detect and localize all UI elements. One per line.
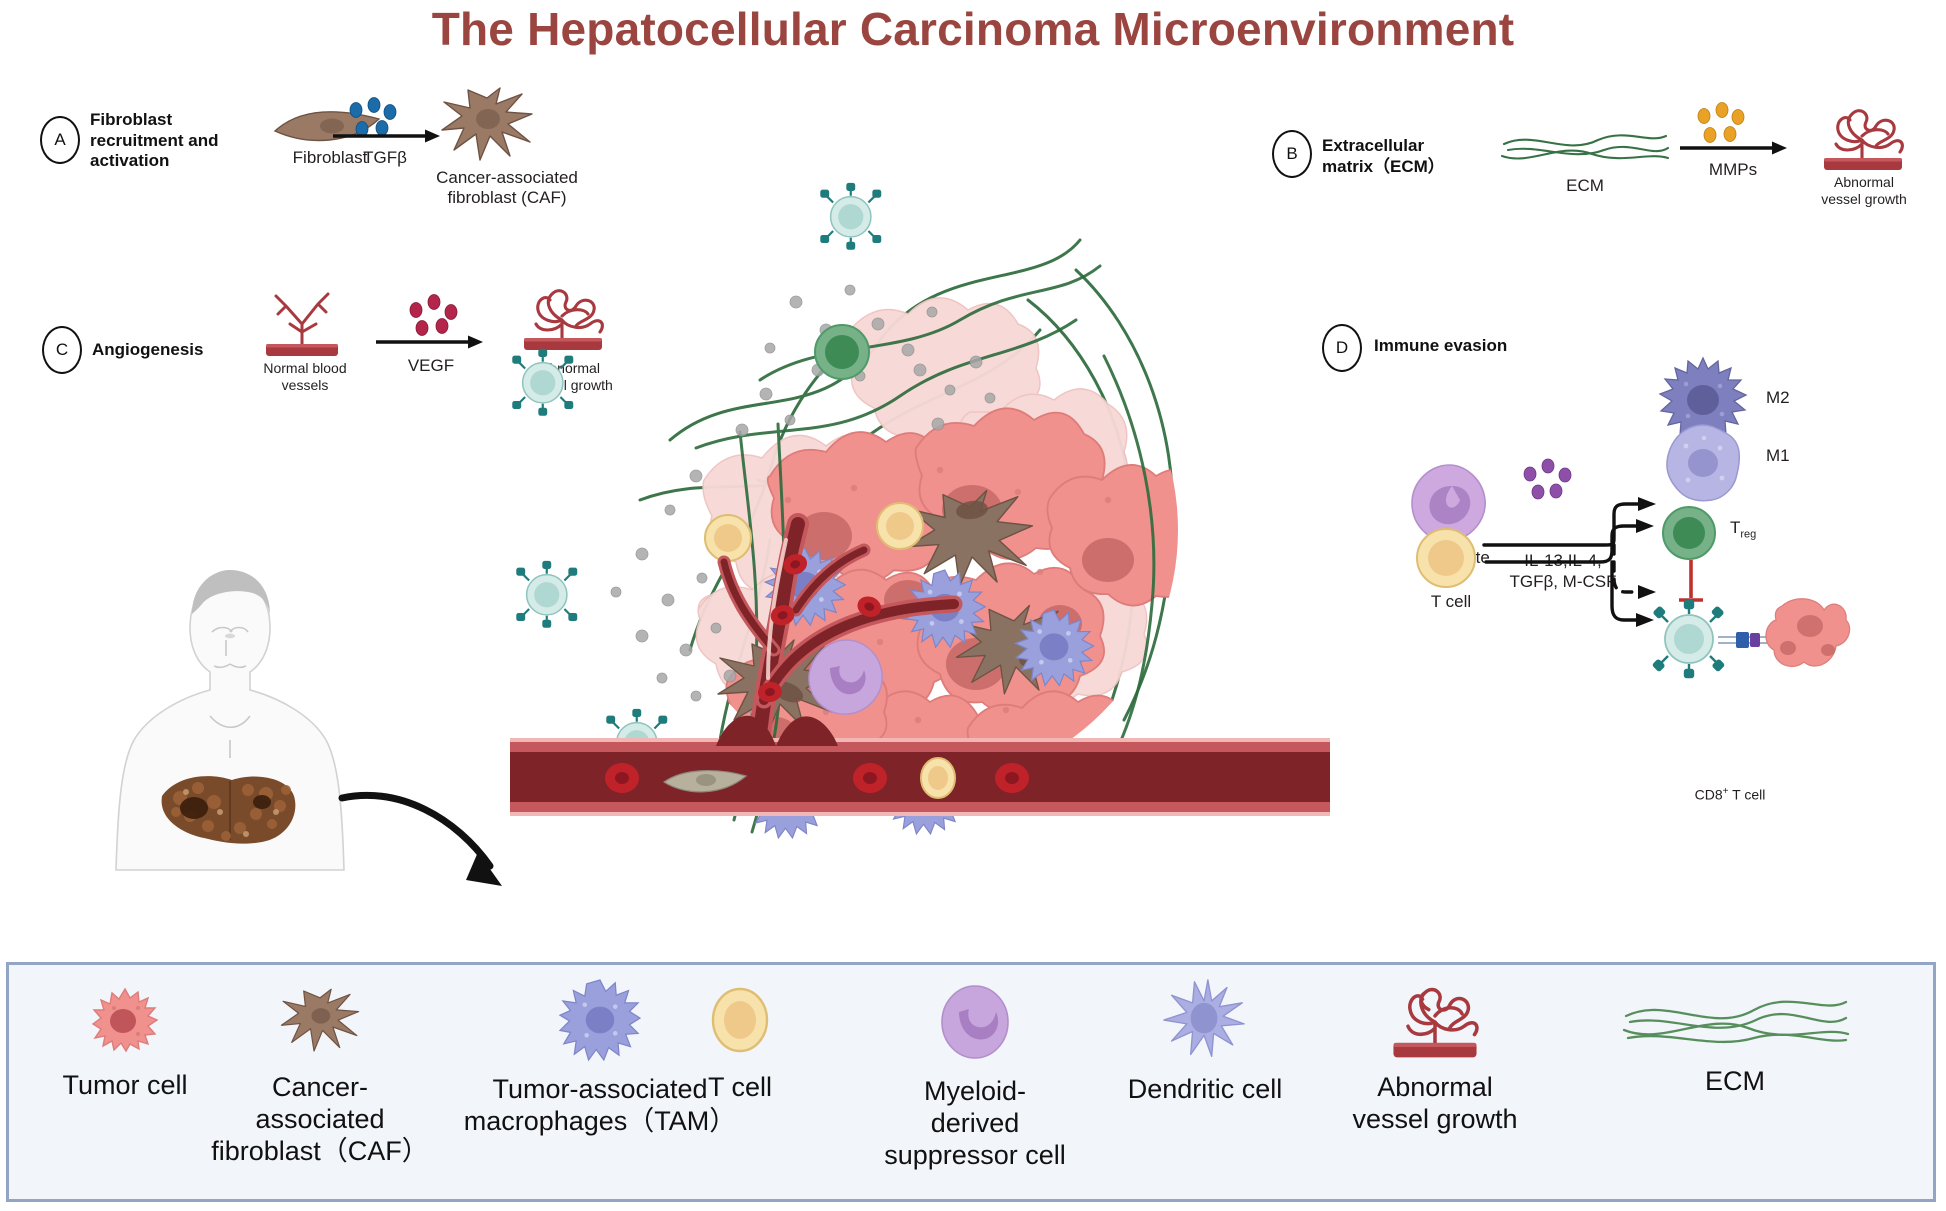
legend-item-dendritic-cell: Dendritic cell: [1090, 978, 1320, 1106]
panel-d-t-cell-icon: [1414, 526, 1478, 590]
panel-c-letter-badge: C: [42, 326, 82, 374]
panel-c-arrow-icon: [376, 334, 484, 350]
panel-a-title: Fibroblast recruitment and activation: [90, 110, 240, 172]
cd8-t-cell-icon: [1650, 600, 1728, 678]
panel-b-title: Extracellular matrix（ECM）: [1322, 136, 1482, 177]
panel-b-letter: B: [1272, 130, 1312, 178]
legend-item-caf: Cancer- associated fibroblast（CAF）: [205, 986, 435, 1168]
cd8-label: CD8+ T cell: [1640, 786, 1820, 803]
cytokine-dots-icon: [1516, 460, 1578, 504]
legend-item-ecm: ECM: [1570, 992, 1900, 1098]
cd8-label-tail: T cell: [1729, 787, 1766, 803]
panel-b-ecm-icon: [1500, 128, 1670, 170]
panel-d-letter-badge: D: [1322, 324, 1362, 372]
panel-b-source-label: ECM: [1520, 176, 1650, 196]
page-title: The Hepatocellular Carcinoma Microenviro…: [0, 2, 1946, 56]
abnormal-vessel-icon: [1381, 978, 1489, 1062]
legend-item-mdsc: Myeloid- derived suppressor cell: [845, 984, 1105, 1172]
panel-a-letter: A: [40, 116, 80, 164]
cd8-label-main: CD8: [1695, 787, 1723, 803]
tam-icon: [560, 980, 640, 1060]
legend-label-mdsc: Myeloid- derived suppressor cell: [845, 1076, 1105, 1172]
panel-a-letter-badge: A: [40, 116, 80, 164]
m1-macrophage-icon: [1662, 422, 1744, 504]
m1-label: M1: [1766, 446, 1826, 466]
legend-label-caf: Cancer- associated fibroblast（CAF）: [205, 1072, 435, 1168]
legend-label-dendritic-cell: Dendritic cell: [1090, 1074, 1320, 1106]
treg-icon: [1660, 504, 1718, 562]
legend-item-abnormal-vessel: Abnormal vessel growth: [1310, 978, 1560, 1136]
panel-a-caf-icon: [438, 86, 536, 164]
panel-d-letter: D: [1322, 324, 1362, 372]
panel-a-arrow-icon: [333, 128, 441, 144]
tumor-cell-icon: [92, 986, 158, 1052]
legend-label-t-cell: T cell: [660, 1072, 820, 1104]
panel-d-t-cell-label: T cell: [1406, 592, 1496, 612]
caf-icon: [278, 986, 362, 1056]
t-cell-icon: [709, 986, 771, 1054]
panel-b-abnormal-vessel-icon: [1810, 100, 1914, 174]
legend-item-t-cell: T cell: [660, 986, 820, 1104]
panel-c-normal-vessel-icon: [254, 288, 350, 360]
panel-b-arrow-icon: [1680, 140, 1788, 156]
dendritic-cell-icon: [1162, 978, 1248, 1064]
mdsc-icon: [939, 984, 1011, 1060]
panel-c-arrow-label: VEGF: [376, 356, 486, 376]
legend-label-ecm: ECM: [1570, 1066, 1900, 1098]
panel-c-title: Angiogenesis: [92, 340, 262, 361]
ecm-icon: [1620, 992, 1850, 1052]
panel-c-letter: C: [42, 326, 82, 374]
tumor-vasculature-illustration: [520, 500, 1320, 900]
m2-label: M2: [1766, 388, 1826, 408]
treg-label-main: T: [1730, 518, 1740, 537]
panel-b-result-label: Abnormal vessel growth: [1794, 174, 1934, 208]
legend-label-tumor-cell: Tumor cell: [40, 1070, 210, 1102]
treg-label-sub: reg: [1740, 528, 1756, 540]
legend-label-abnormal-vessel: Abnormal vessel growth: [1310, 1072, 1560, 1136]
treg-label: Treg: [1730, 518, 1756, 540]
cd8-target-tumor-icon: [1762, 592, 1854, 678]
panel-b-arrow-label: MMPs: [1678, 160, 1788, 180]
panel-b-letter-badge: B: [1272, 130, 1312, 178]
panel-c-source-label: Normal blood vessels: [230, 360, 380, 394]
panel-a-arrow-label: TGFβ: [330, 148, 440, 168]
legend-item-tumor-cell: Tumor cell: [40, 986, 210, 1102]
panel-d-title: Immune evasion: [1374, 336, 1604, 357]
